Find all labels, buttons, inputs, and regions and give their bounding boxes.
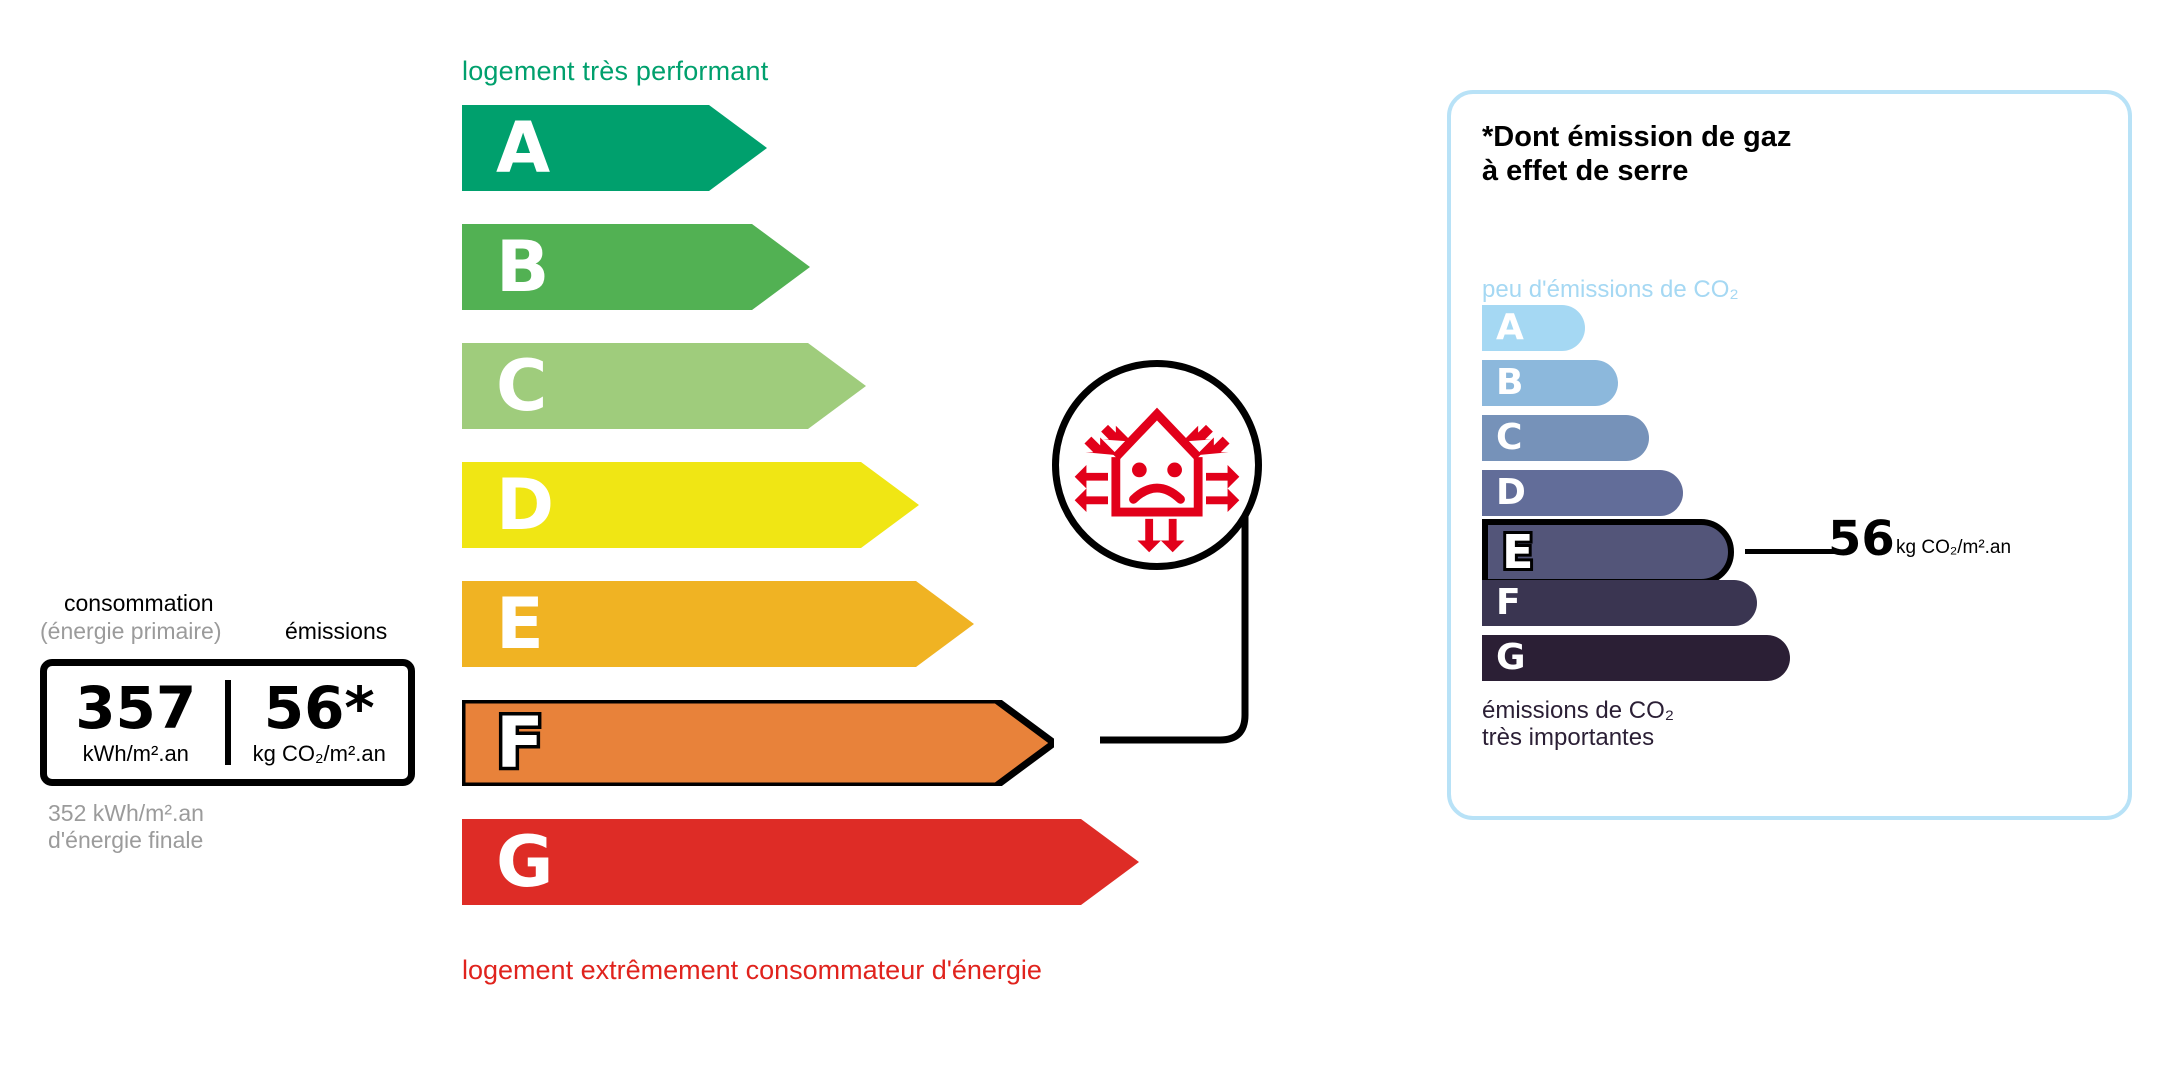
co2-bottom-caption-line1: émissions de CO₂	[1482, 697, 1674, 725]
emissions-value: 56*	[264, 679, 375, 737]
co2-class-bars: ABCDEFG	[1482, 305, 2102, 685]
co2-bar-d: D	[1482, 470, 1683, 516]
emissions-unit: kg CO₂/m².an	[253, 741, 386, 767]
consumption-value-box: 357 kWh/m².an 56* kg CO₂/m².an	[40, 659, 415, 786]
co2-bar-letter: F	[1496, 585, 1521, 621]
co2-bar-letter: G	[1496, 640, 1526, 676]
co2-bar-f: F	[1482, 580, 1757, 626]
energy-band-e: E	[462, 581, 974, 667]
co2-title-line2: à effet de serre	[1482, 154, 1791, 188]
energy-band-letter: F	[496, 708, 544, 778]
energy-band-letter: A	[496, 113, 550, 183]
primary-energy-cell: 357 kWh/m².an	[47, 666, 225, 779]
co2-top-caption: peu d'émissions de CO₂	[1482, 276, 1739, 304]
label-emissions: émissions	[285, 618, 387, 645]
co2-value-leader-line	[1745, 549, 1835, 554]
co2-bar-c: C	[1482, 415, 1649, 461]
co2-bar-letter: A	[1496, 310, 1524, 346]
co2-value-unit: kg CO₂/m².an	[1896, 537, 2011, 559]
co2-bar-g: G	[1482, 635, 1790, 681]
co2-title-line1: *Dont émission de gaz	[1482, 120, 1791, 154]
primary-energy-value: 357	[75, 679, 196, 737]
co2-bar-letter: E	[1502, 529, 1533, 575]
co2-bar-b: B	[1482, 360, 1618, 406]
energy-top-caption: logement très performant	[462, 56, 768, 87]
energy-band-letter: B	[496, 232, 549, 302]
label-final-energy-text: d'énergie finale	[48, 827, 203, 854]
energy-band-g: G	[462, 819, 1139, 905]
sad-house-badge	[1052, 360, 1262, 570]
co2-bar-letter: D	[1496, 475, 1526, 511]
energy-band-letter: C	[496, 351, 547, 421]
label-final-energy-value: 352 kWh/m².an	[48, 800, 204, 827]
co2-bottom-caption-line2: très importantes	[1482, 724, 1654, 752]
co2-bar-e: E	[1482, 519, 1734, 585]
energy-band-letter: E	[496, 589, 544, 659]
co2-bar-a: A	[1482, 305, 1585, 351]
sad-house-heat-loss-icon	[1059, 367, 1255, 563]
energy-band-letter: D	[496, 470, 554, 540]
energy-band-letter: G	[496, 827, 553, 897]
energy-band-c: C	[462, 343, 866, 429]
label-energie-primaire: (énergie primaire)	[40, 618, 222, 645]
energy-band-f: F	[462, 700, 1054, 786]
co2-panel-title: *Dont émission de gaz à effet de serre	[1482, 120, 1791, 188]
emissions-cell: 56* kg CO₂/m².an	[231, 666, 409, 779]
energy-bottom-caption: logement extrêmement consommateur d'éner…	[462, 955, 1042, 986]
co2-value: 56	[1828, 515, 1895, 563]
label-consommation: consommation	[64, 590, 214, 617]
energy-band-a: A	[462, 105, 767, 191]
primary-energy-unit: kWh/m².an	[83, 741, 189, 767]
energy-band-d: D	[462, 462, 919, 548]
co2-bar-letter: B	[1496, 365, 1523, 401]
energy-band-b: B	[462, 224, 810, 310]
co2-bar-letter: C	[1496, 420, 1522, 456]
